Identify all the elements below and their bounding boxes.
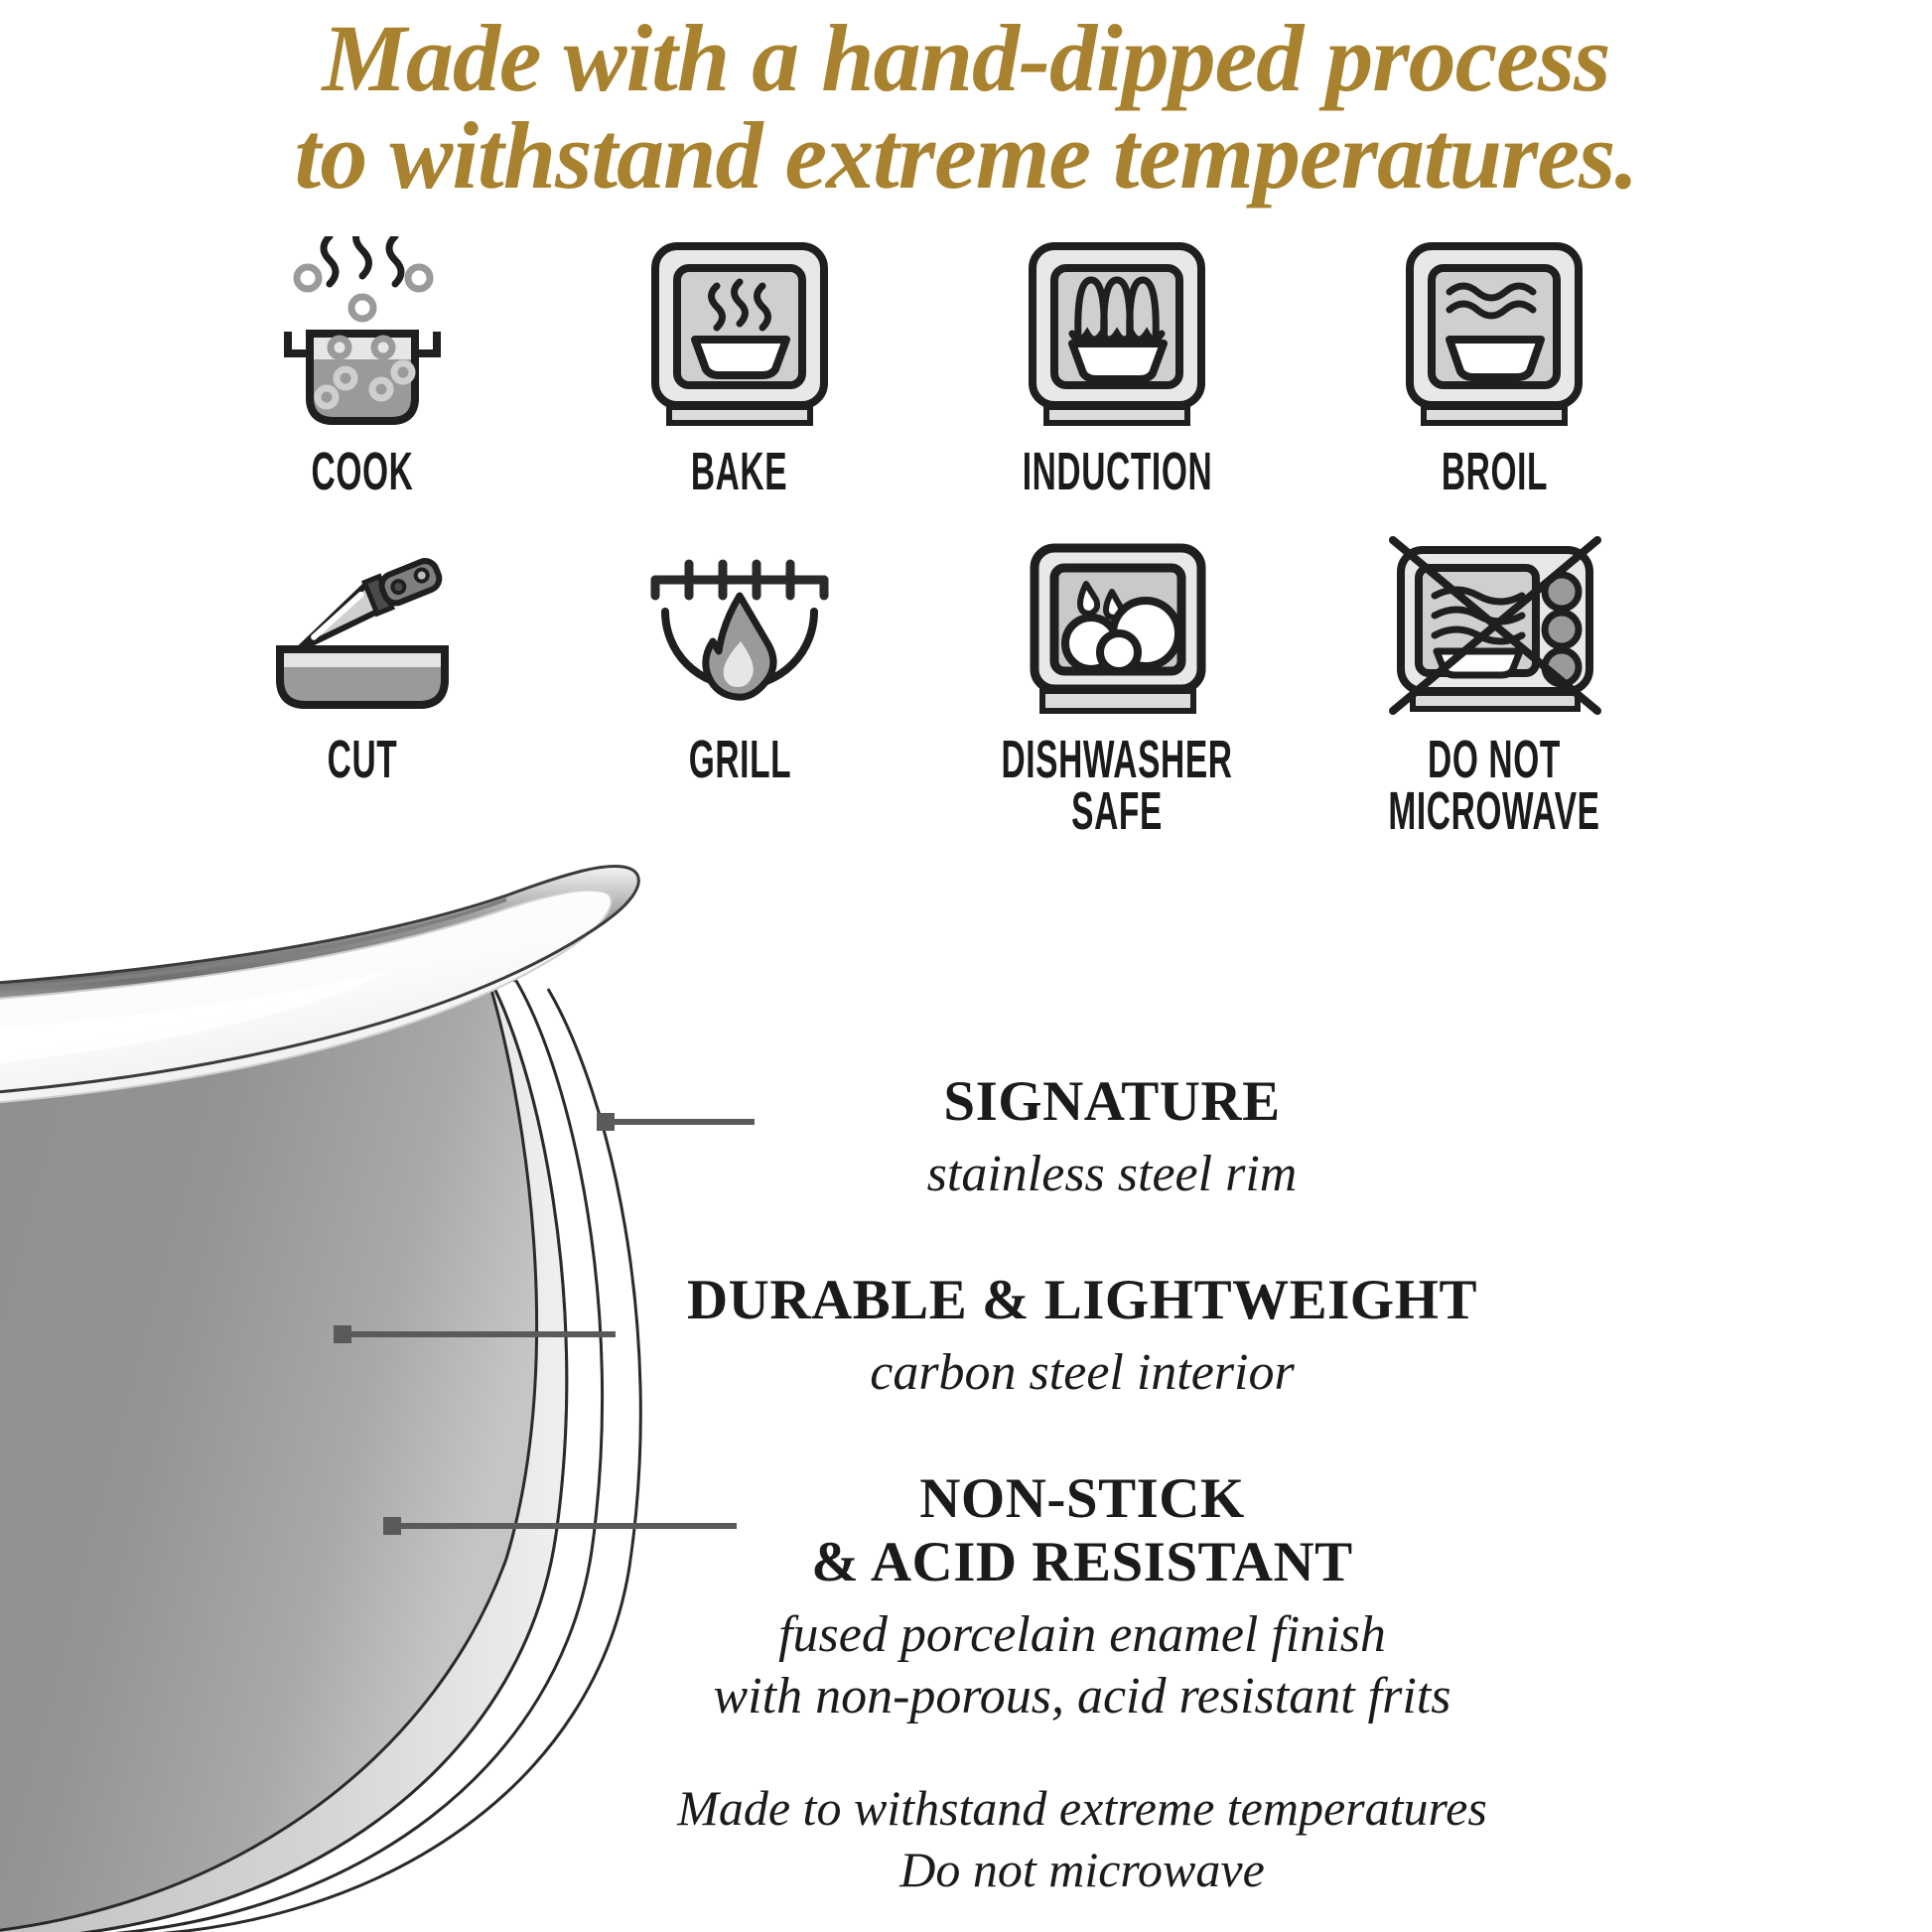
pot-boiling-icon [248, 236, 477, 435]
callout-nonstick-subtitle: fused porcelain enamel finish with non-p… [635, 1604, 1529, 1728]
capability-label-grill: GRILL [688, 735, 791, 786]
capability-item-bake: BAKE [551, 236, 928, 498]
grill-flame-icon [625, 534, 854, 723]
callout-nonstick: NON-STICK & ACID RESISTANT fused porcela… [635, 1467, 1529, 1727]
capability-row-1: COOK BA [174, 236, 1683, 498]
capability-row-2: CUT [174, 534, 1683, 838]
capability-label-bake: BAKE [691, 447, 787, 498]
callout-durable-title: DURABLE & LIGHTWEIGHT [635, 1269, 1529, 1332]
callout-durable-subtitle: carbon steel interior [635, 1342, 1529, 1404]
product-infographic: Made with a hand-dipped process to withs… [0, 0, 1932, 1932]
callout-nonstick-title: NON-STICK & ACID RESISTANT [635, 1467, 1529, 1594]
capability-label-microwave: DO NOT MICROWAVE [1388, 735, 1599, 838]
capability-item-cook: COOK [174, 236, 551, 498]
knife-dish-icon [248, 534, 477, 723]
page-title: Made with a hand-dipped process to withs… [0, 10, 1932, 205]
capability-item-cut: CUT [174, 534, 551, 838]
capability-label-cook: COOK [312, 447, 414, 498]
capability-label-broil: BROIL [1441, 447, 1547, 498]
footnote-care-text: Made to withstand extreme temperatures D… [616, 1777, 1549, 1900]
callout-signature-subtitle: stainless steel rim [764, 1144, 1459, 1205]
capability-item-microwave: DO NOT MICROWAVE [1306, 534, 1683, 838]
oven-broil-icon [1380, 236, 1608, 435]
callout-durable: DURABLE & LIGHTWEIGHT carbon steel inter… [635, 1269, 1529, 1404]
capability-icon-grid: COOK BA [174, 236, 1683, 837]
capability-item-dishwasher: DISHWASHER SAFE [928, 534, 1306, 838]
headline-line-2: to withstand extreme temperatures. [0, 107, 1932, 205]
callout-signature: SIGNATURE stainless steel rim [764, 1070, 1459, 1205]
capability-item-grill: GRILL [551, 534, 928, 838]
dishwasher-icon [1003, 534, 1231, 723]
microwave-crossed-out-icon [1375, 534, 1613, 723]
capability-label-induction: INDUCTION [1022, 447, 1212, 498]
capability-item-induction: INDUCTION [928, 236, 1306, 498]
oven-bake-icon [625, 236, 854, 435]
callout-signature-title: SIGNATURE [764, 1070, 1459, 1134]
induction-coil-icon [1003, 236, 1231, 435]
capability-item-broil: BROIL [1306, 236, 1683, 498]
capability-label-dishwasher: DISHWASHER SAFE [1001, 735, 1232, 838]
headline-line-1: Made with a hand-dipped process [0, 10, 1932, 107]
capability-label-cut: CUT [328, 735, 398, 786]
